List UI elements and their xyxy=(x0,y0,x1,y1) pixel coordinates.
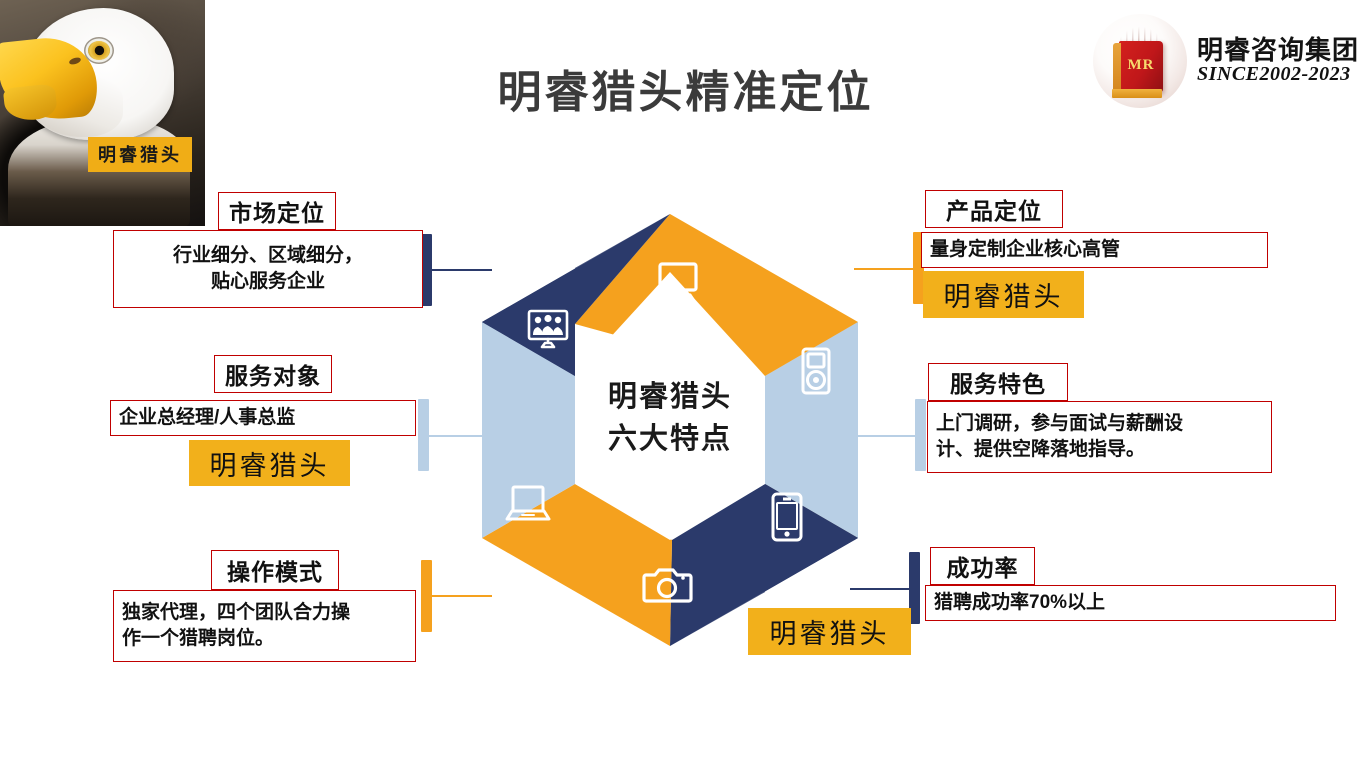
connector-line-product-positioning xyxy=(854,268,914,270)
tag-service-target[interactable]: 服务对象 xyxy=(214,355,332,393)
body-service-features: 上门调研，参与面试与薪酬设 计、提供空降落地指导。 xyxy=(927,401,1272,473)
tag-market-positioning[interactable]: 市场定位 xyxy=(218,192,336,230)
body-text-product-positioning: 量身定制企业核心高管 xyxy=(930,237,1120,263)
watermark-success-rate: 明睿猎头 xyxy=(748,608,911,655)
connector-line-market-positioning xyxy=(432,269,492,271)
brand-emblem-icon: MR xyxy=(1093,14,1187,108)
body-market-positioning: 行业细分、区域细分， 贴心服务企业 xyxy=(113,230,423,308)
connector-bar-service-features xyxy=(915,399,926,471)
body-text-success-rate: 猎聘成功率70%以上 xyxy=(934,590,1105,616)
slide-canvas: 明睿猎头 明睿猎头精准定位 MR 明睿咨询集团 SINCE2002-2023 xyxy=(0,0,1371,773)
photo-watermark-caption: 明睿猎头 xyxy=(88,137,192,172)
body-operation-mode: 独家代理，四个团队合力操 作一个猎聘岗位。 xyxy=(113,590,416,662)
body-service-target: 企业总经理/人事总监 xyxy=(110,400,416,436)
body-text-operation-mode: 独家代理，四个团队合力操 作一个猎聘岗位。 xyxy=(122,600,350,651)
connector-line-success-rate xyxy=(850,588,910,590)
brand-text-block: 明睿咨询集团 SINCE2002-2023 xyxy=(1197,37,1359,85)
connector-line-service-target xyxy=(429,435,491,437)
body-text-market-positioning: 行业细分、区域细分， 贴心服务企业 xyxy=(173,243,363,294)
tag-service-features[interactable]: 服务特色 xyxy=(928,363,1068,401)
connector-line-operation-mode xyxy=(432,595,492,597)
body-text-service-features: 上门调研，参与面试与薪酬设 计、提供空降落地指导。 xyxy=(936,411,1183,462)
connector-bar-service-target xyxy=(418,399,429,471)
brand-monogram: MR xyxy=(1119,57,1163,74)
tag-operation-mode[interactable]: 操作模式 xyxy=(211,550,339,590)
brand-logo: MR 明睿咨询集团 SINCE2002-2023 xyxy=(1093,14,1359,108)
body-text-service-target: 企业总经理/人事总监 xyxy=(119,405,295,431)
brand-book-icon: MR xyxy=(1119,41,1163,93)
hexagon-diagram: 明睿猎头 六大特点 xyxy=(475,210,865,650)
brand-since: SINCE2002-2023 xyxy=(1197,64,1359,85)
tag-success-rate[interactable]: 成功率 xyxy=(930,547,1035,585)
connector-line-service-features xyxy=(856,435,916,437)
connector-bar-operation-mode xyxy=(421,560,432,632)
brand-name-cn: 明睿咨询集团 xyxy=(1197,37,1359,64)
watermark-service-target: 明睿猎头 xyxy=(189,440,350,486)
tag-product-positioning[interactable]: 产品定位 xyxy=(925,190,1063,228)
body-product-positioning: 量身定制企业核心高管 xyxy=(921,232,1268,268)
watermark-product-positioning: 明睿猎头 xyxy=(923,271,1084,318)
hexagon-svg xyxy=(475,210,865,650)
body-success-rate: 猎聘成功率70%以上 xyxy=(925,585,1336,621)
